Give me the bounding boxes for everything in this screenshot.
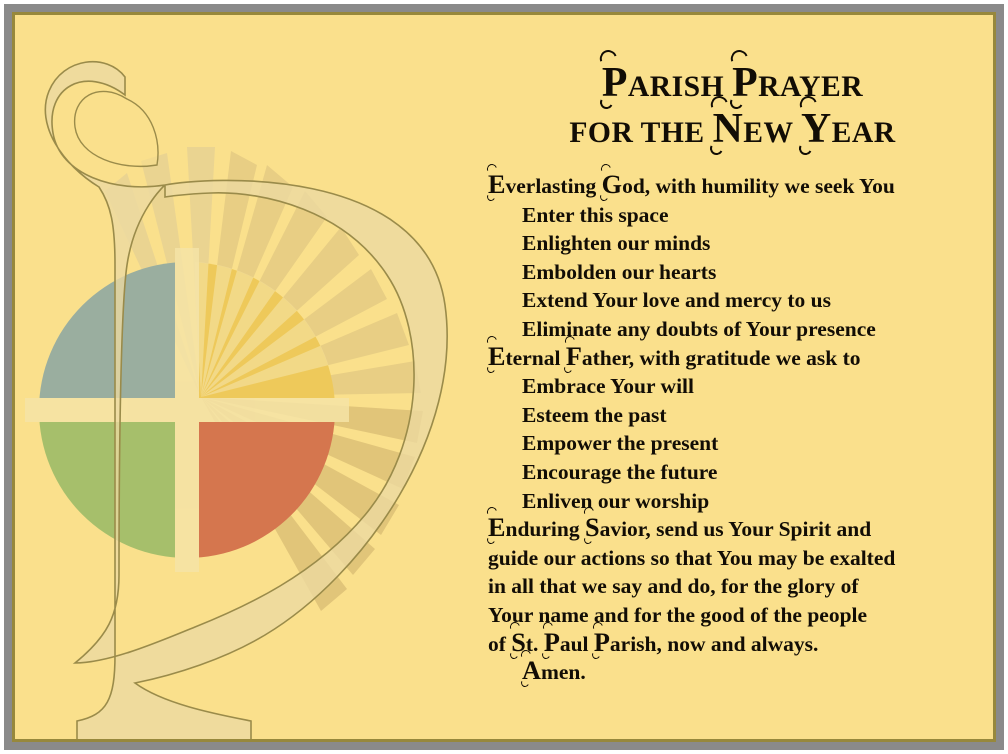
poster-inner-rule: PARISH PRAYER FOR THE NEW YEAR Everlasti… [12,12,996,742]
amen-line: Amen. [488,658,987,687]
closing-line-3: in all that we say and do, for the glory… [488,572,987,601]
amen-ornate-a: A [522,658,541,684]
stanza-2-petition-5: Enliven our worship [488,487,987,516]
stanza-1-petition-4: Extend Your love and mercy to us [488,286,987,315]
closing-line-5: of St. Paul Parish, now and always. [488,630,987,659]
stanza-1-lead-line: Everlasting God, with humility we seek Y… [488,172,987,201]
closing-line-1-text-a: nduring [506,517,585,541]
title-line-2-text-b: EW [743,117,801,149]
closing-ornate-s: S [585,515,600,541]
amen-text: men. [541,660,586,684]
parish-emblem-artwork [15,15,467,742]
title-line-2: FOR THE NEW YEAR [480,109,985,155]
closing-ornate-paul: P [544,630,560,656]
stanza-1-petition-3: Embolden our hearts [488,258,987,287]
title-ornate-p1: P [602,63,628,105]
closing-line-1-text-b: avior, send us Your Spirit and [600,517,872,541]
stanza-2-ornate-e: E [488,344,506,370]
closing-ornate-parish: P [594,630,610,656]
prayer-text-column: PARISH PRAYER FOR THE NEW YEAR Everlasti… [470,15,995,742]
title-ornate-p2: P [732,63,758,105]
title-ornate-y: Y [801,109,832,151]
closing-line-5-text-a: of [488,632,511,656]
stanza-2-petition-4: Encourage the future [488,458,987,487]
stanza-1-ornate-g: G [602,172,622,198]
closing-line-2: guide our actions so that You may be exa… [488,544,987,573]
stanza-1-petition-2: Enlighten our minds [488,229,987,258]
poster-frame: PARISH PRAYER FOR THE NEW YEAR Everlasti… [4,4,1004,750]
title-line-2-text-c: EAR [832,117,896,149]
stanza-1-lead-text-a: verlasting [506,174,602,198]
stanza-2-lead-line: Eternal Father, with gratitude we ask to [488,344,987,373]
title-ornate-n: N [713,109,744,151]
prayer-stanza-1: Everlasting God, with humility we seek Y… [488,172,987,344]
closing-ornate-e: E [488,515,506,541]
title-line-2-text-a: FOR THE [569,117,712,149]
stanza-2-petition-1: Embrace Your will [488,372,987,401]
stanza-2-lead-text-b: ather, with gratitude we ask to [582,346,861,370]
prayer-stanza-2: Eternal Father, with gratitude we ask to… [488,344,987,516]
stanza-2-petition-3: Empower the present [488,429,987,458]
stanza-1-petition-5: Eliminate any doubts of Your presence [488,315,987,344]
closing-line-5-text-c: aul [560,632,594,656]
title-line-1: PARISH PRAYER [480,63,985,109]
closing-line-5-text-d: arish, now and always. [610,632,818,656]
prayer-body: Everlasting God, with humility we seek Y… [470,155,995,687]
closing-line-1: Enduring Savior, send us Your Spirit and [488,515,987,544]
stanza-2-petition-2: Esteem the past [488,401,987,430]
stanza-1-lead-text-b: od, with humility we seek You [622,174,895,198]
stanza-2-ornate-f: F [566,344,582,370]
stanza-1-petition-1: Enter this space [488,201,987,230]
prayer-title: PARISH PRAYER FOR THE NEW YEAR [470,15,995,155]
stanza-2-lead-text-a: ternal [506,346,566,370]
stanza-1-ornate-e: E [488,172,506,198]
prayer-closing-stanza: Enduring Savior, send us Your Spirit and… [488,515,987,687]
closing-line-4: Your name and for the good of the people [488,601,987,630]
